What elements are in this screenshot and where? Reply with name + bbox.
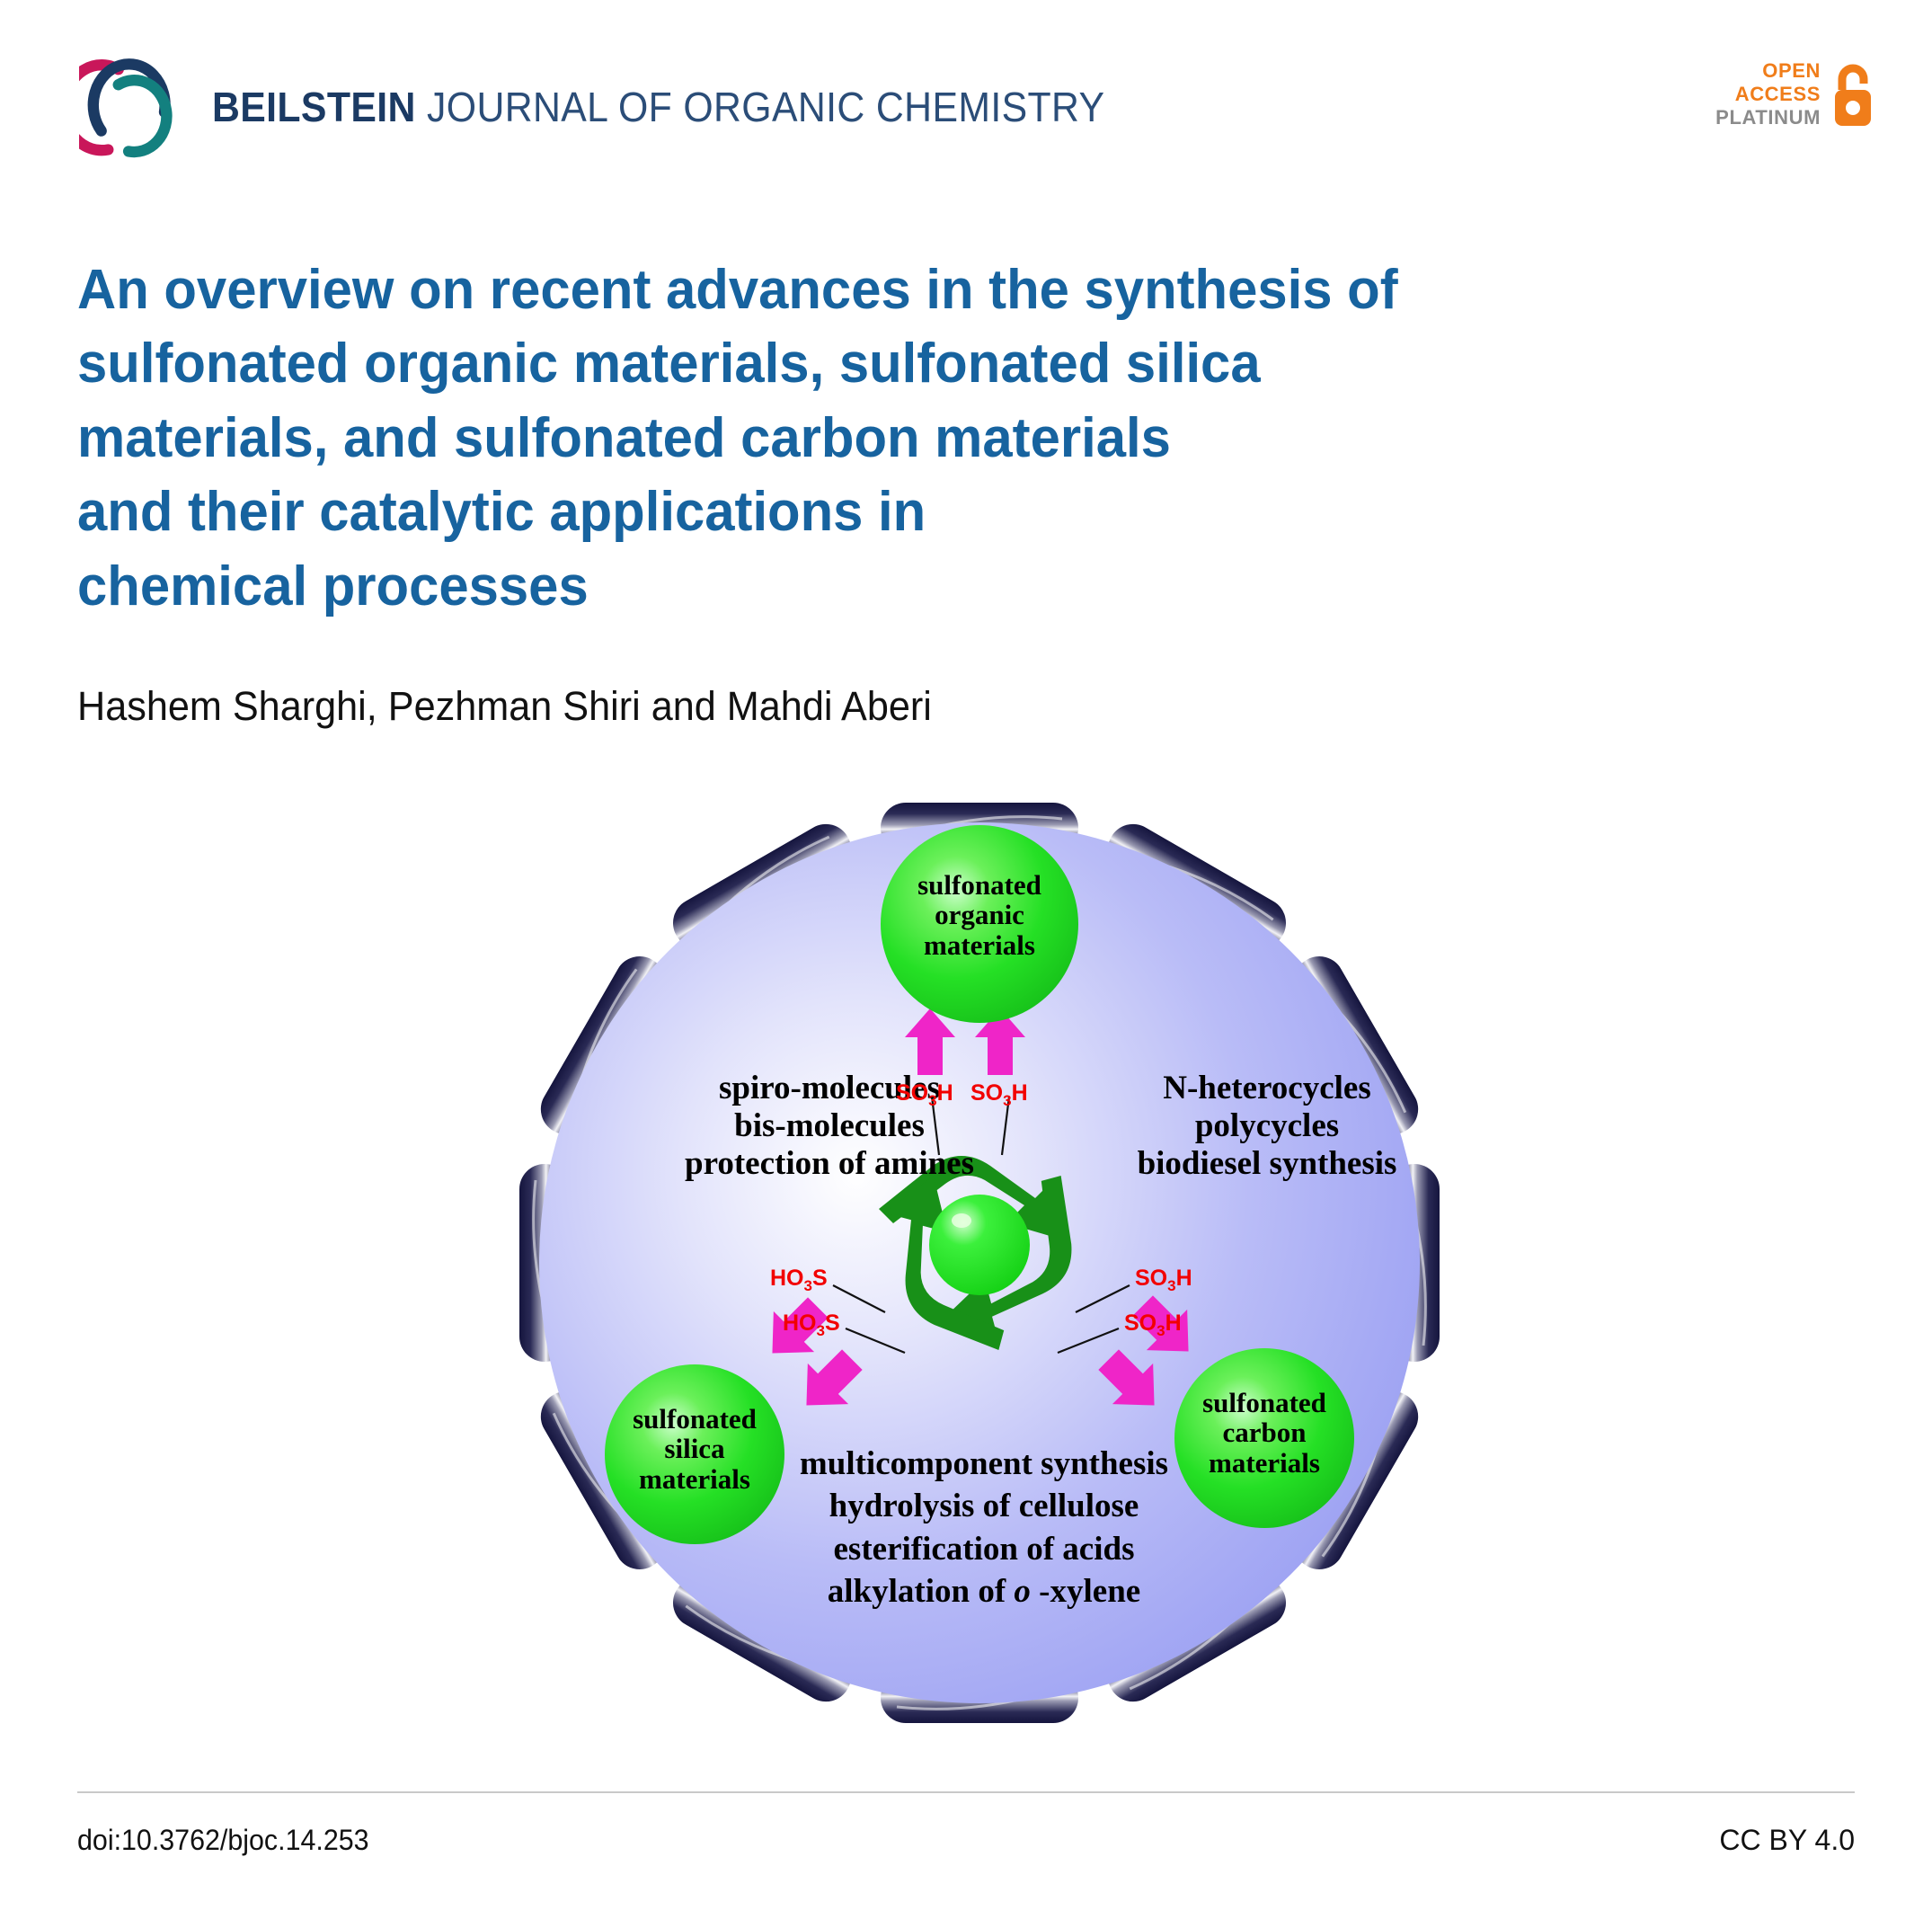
- journal-title-light: JOURNAL OF ORGANIC CHEMISTRY: [416, 84, 1105, 130]
- text-block-right-line1: N-heterocycles: [1065, 1070, 1469, 1107]
- page-title: An overview on recent advances in the sy…: [77, 253, 1603, 624]
- license-text: CC BY 4.0: [1719, 1824, 1855, 1857]
- footer-divider: [77, 1791, 1855, 1793]
- title-line-2: sulfonated organic materials, sulfonated…: [77, 327, 1603, 401]
- text-block-bottom-line1: multicomponent synthesis: [750, 1443, 1218, 1485]
- ho3s-label-left-lower: HO3S: [783, 1310, 840, 1340]
- journal-title: BEILSTEIN JOURNAL OF ORGANIC CHEMISTRY: [212, 83, 1104, 131]
- oa-line-platinum: PLATINUM: [1715, 106, 1821, 129]
- journal-brand[interactable]: BEILSTEIN JOURNAL OF ORGANIC CHEMISTRY: [79, 56, 1172, 158]
- sphere-organic-line2: organic: [881, 900, 1078, 929]
- open-padlock-icon: [1830, 61, 1876, 128]
- text-block-bottom-line2: hydrolysis of cellulose: [750, 1485, 1218, 1527]
- doi-text[interactable]: doi:10.3762/bjoc.14.253: [77, 1824, 369, 1857]
- author-list: Hashem Sharghi, Pezhman Shiri and Mahdi …: [77, 683, 932, 730]
- title-line-3: materials, and sulfonated carbon materia…: [77, 402, 1603, 475]
- so3h-label-right-upper: SO3H: [1135, 1266, 1192, 1295]
- sphere-organic-line1: sulfonated: [881, 870, 1078, 900]
- sphere-silica-line1: sulfonated: [596, 1404, 793, 1434]
- oa-line-open: OPEN: [1715, 59, 1821, 83]
- oa-line-access: ACCESS: [1715, 83, 1821, 106]
- ho3s-label-left-upper: HO3S: [770, 1266, 828, 1295]
- journal-title-bold: BEILSTEIN: [212, 84, 416, 130]
- so3h-label-top-right: SO3H: [970, 1080, 1028, 1110]
- title-line-1: An overview on recent advances in the sy…: [77, 253, 1603, 327]
- open-access-text: OPEN ACCESS PLATINUM: [1715, 59, 1821, 129]
- page-header: BEILSTEIN JOURNAL OF ORGANIC CHEMISTRY O…: [0, 0, 1932, 166]
- title-line-5: chemical processes: [77, 550, 1603, 624]
- text-block-left-line3: protection of amines: [578, 1145, 1081, 1183]
- sphere-organic-label: sulfonated organic materials: [881, 870, 1078, 960]
- text-block-right-line2: polycycles: [1065, 1107, 1469, 1145]
- so3h-label-right-lower: SO3H: [1124, 1310, 1182, 1340]
- text-block-right: N-heterocycles polycycles biodiesel synt…: [1065, 1070, 1469, 1184]
- sphere-organic-line3: materials: [881, 930, 1078, 960]
- text-block-right-line3: biodiesel synthesis: [1065, 1145, 1469, 1183]
- text-block-bottom: multicomponent synthesis hydrolysis of c…: [750, 1443, 1218, 1612]
- so3h-label-top-left: SO3H: [896, 1080, 953, 1110]
- beilstein-triple-arc-logo: [79, 56, 182, 158]
- text-block-bottom-line4: alkylation of o -xylene: [750, 1570, 1218, 1612]
- text-block-bottom-line3: esterification of acids: [750, 1528, 1218, 1570]
- title-line-4: and their catalytic applications in: [77, 475, 1603, 549]
- sphere-carbon-line1: sulfonated: [1165, 1388, 1363, 1417]
- open-access-badge: OPEN ACCESS PLATINUM: [1715, 59, 1876, 129]
- text-block-left-line2: bis-molecules: [578, 1107, 1081, 1145]
- graphical-abstract: sulfonated organic materials sulfonated …: [490, 773, 1469, 1753]
